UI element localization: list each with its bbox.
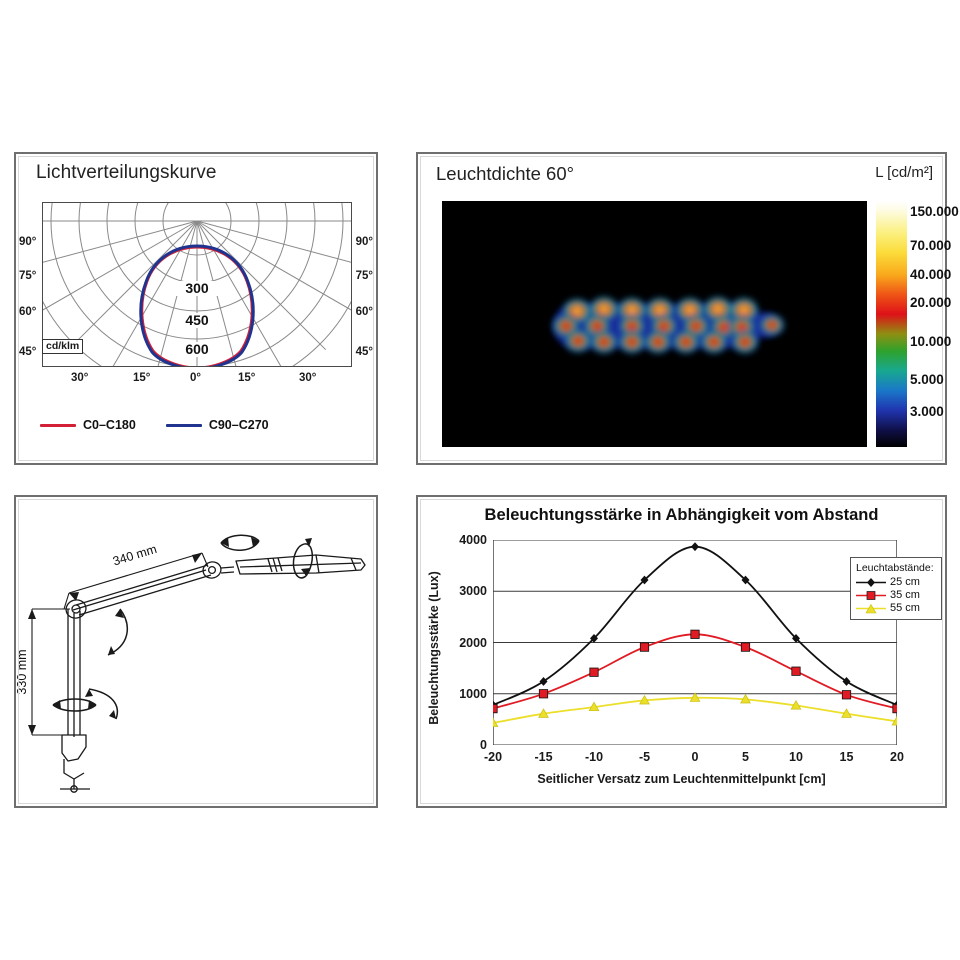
ldc-legend-swatch-blue [166,424,202,427]
ldc-bottom-angle-zero: 0° [190,372,201,384]
motion-arrowheads [53,537,312,719]
chart-legend-row-55cm: 55 cm [856,602,936,614]
chart-y-axis-label: Beleuchtungsstärke (Lux) [424,553,444,743]
ldc-bottom-angle-plus15: 15° [238,372,255,384]
panel-luminance: Leuchtdichte 60° L [cd/m²] [416,152,947,465]
chart-legend-label-55cm: 55 cm [890,602,920,614]
chart-data-point [540,677,548,686]
chart-svg [493,540,897,745]
ldc-left-angle-60: 60° [19,306,36,318]
chart-x-axis-label: Seitlicher Versatz zum Leuchtenmittelpun… [418,772,945,786]
panel-lamp-dimensions: 340 mm 330 mm [14,495,378,808]
legend-marker-triangle-icon [856,603,886,614]
ldc-right-angle-75: 75° [356,270,373,282]
chart-data-point [741,643,749,651]
chart-legend-title: Leuchtabstände: [856,562,936,574]
luminance-unit-label: L [cd/m²] [875,164,933,181]
ldc-legend-label-c90-c270: C90–C270 [209,418,269,432]
ldc-unit-box: cd/klm [42,339,83,354]
scale-label-10000: 10.000 [910,334,951,349]
chart-x-tick: 0 [692,750,699,764]
luminance-title: Leuchtdichte 60° [436,163,574,185]
chart-y-tick: 4000 [459,533,487,547]
lamp-dim-arm-label: 340 mm [111,542,158,569]
ldc-right-angle-60: 60° [356,306,373,318]
luminance-heatmap-svg [442,201,867,447]
scale-label-20000: 20.000 [910,295,951,310]
chart-legend-label-25cm: 25 cm [890,576,920,588]
luminance-color-scale [876,201,907,447]
chart-legend-row-35cm: 35 cm [856,589,936,601]
chart-data-point [590,668,598,676]
chart-x-tick: 5 [742,750,749,764]
chart-x-tick: -10 [585,750,603,764]
ldc-legend: C0–C180 C90–C270 [40,418,269,432]
svg-text:600: 600 [185,341,209,357]
ldc-legend-swatch-red [40,424,76,427]
ldc-right-angle-45: 45° [356,346,373,358]
chart-x-tick: -20 [484,750,502,764]
legend-marker-diamond-icon [856,577,886,588]
chart-data-point [691,630,699,638]
chart-x-tick: -5 [639,750,650,764]
ldc-polar-svg: 300 450 600 [43,203,351,366]
chart-legend-row-25cm: 25 cm [856,576,936,588]
chart-legend-label-35cm: 35 cm [890,589,920,601]
chart-title: Beleuchtungsstärke in Abhängigkeit vom A… [418,506,945,525]
chart-plot-area: 01000200030004000-20-15-10-505101520 [493,540,897,745]
luminance-heatmap-image [442,201,867,447]
scale-label-40000: 40.000 [910,267,951,282]
chart-x-tick: -15 [534,750,552,764]
chart-data-point [691,542,699,551]
ldc-bottom-angle-plus30: 30° [299,372,316,384]
ldc-bottom-angle-minus15: 15° [133,372,150,384]
ldc-radial-labels: 300 450 600 [176,280,218,357]
chart-data-point [842,691,850,699]
panel-illuminance-chart: Beleuchtungsstärke in Abhängigkeit vom A… [416,495,947,808]
chart-data-point [539,690,547,698]
scale-label-3000: 3.000 [910,404,944,419]
chart-data-point [893,704,897,712]
chart-x-tick: 20 [890,750,904,764]
motion-arrows [53,535,312,719]
chart-x-tick: 10 [789,750,803,764]
led-cluster [759,314,785,336]
lamp-dim-height-label: 330 mm [16,649,29,694]
ldc-left-angle-90: 90° [19,236,36,248]
chart-y-tick: 2000 [459,636,487,650]
scale-label-70000: 70.000 [910,238,951,253]
ldc-legend-item-c0-c180: C0–C180 [40,418,136,432]
scale-label-150000: 150.000 [910,204,959,219]
led-cluster [728,297,759,354]
datasheet-figure: Lichtverteilungskurve [0,0,960,960]
ldc-left-angle-75: 75° [19,270,36,282]
chart-data-point [843,677,851,686]
svg-text:300: 300 [185,280,209,296]
chart-legend: Leuchtabstände: 25 cm 35 cm [850,557,942,620]
ldc-left-angle-45: 45° [19,346,36,358]
svg-text:450: 450 [185,312,209,328]
panel-light-distribution-curve: Lichtverteilungskurve [14,152,378,465]
chart-data-point [640,643,648,651]
ldc-title: Lichtverteilungskurve [36,162,217,184]
chart-y-tick: 3000 [459,584,487,598]
legend-marker-square-icon [856,590,886,601]
chart-y-tick: 1000 [459,687,487,701]
ldc-right-angle-90: 90° [356,236,373,248]
ldc-polar-plot: 300 450 600 [42,202,352,367]
chart-data-point [493,704,497,712]
lamp-drawing-svg: 340 mm 330 mm [16,497,376,806]
ldc-bottom-angle-minus30: 30° [71,372,88,384]
scale-label-5000: 5.000 [910,372,944,387]
chart-x-tick: 15 [840,750,854,764]
ldc-legend-item-c90-c270: C90–C270 [166,418,269,432]
ldc-legend-label-c0-c180: C0–C180 [83,418,136,432]
chart-data-point [792,667,800,675]
led-cluster [617,297,647,354]
